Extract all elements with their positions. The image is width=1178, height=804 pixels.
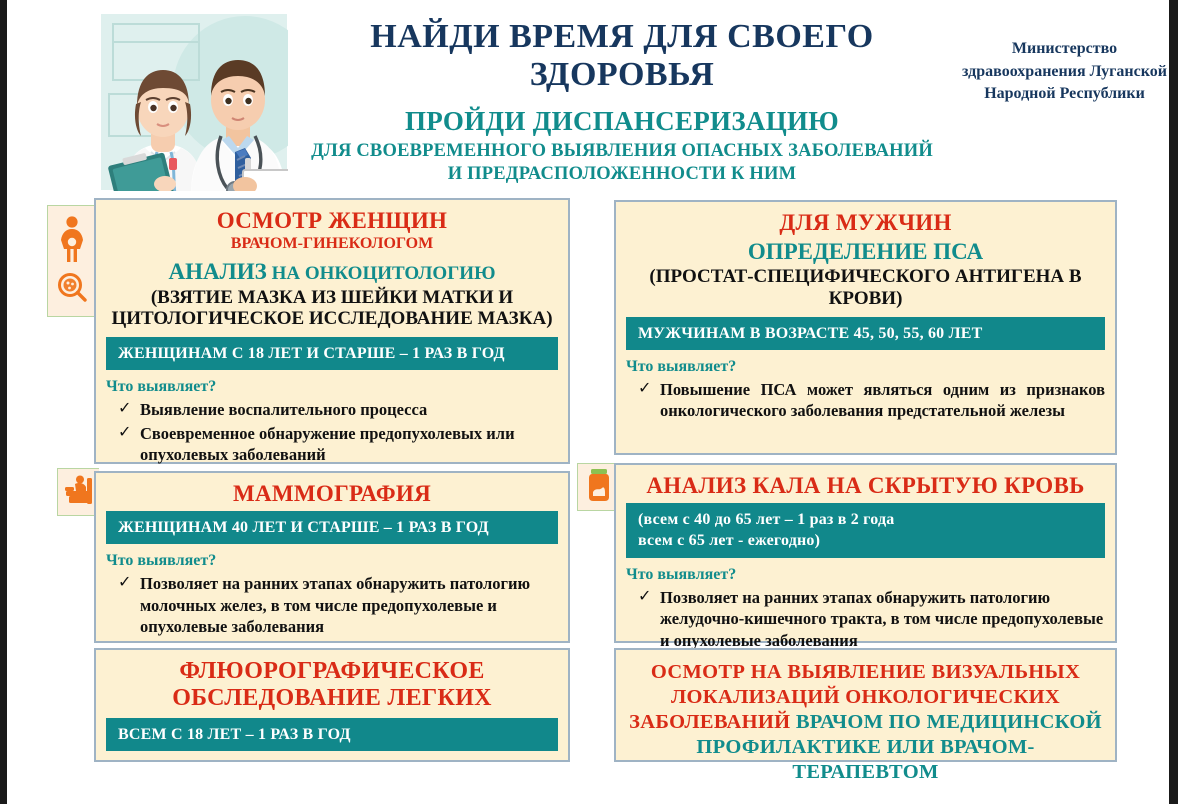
poster-sub-title: ПРОЙДИ ДИСПАНСЕРИЗАЦИЮ <box>307 106 937 137</box>
check-icon: ✓ <box>118 573 131 594</box>
men-psa-heading: ОПРЕДЕЛЕНИЕ ПСА <box>626 239 1105 265</box>
occult-blood-frequency-line-1: (всем с 40 до 65 лет – 1 раз в 2 года <box>638 509 1093 530</box>
occult-blood-icon-chip <box>577 463 619 511</box>
poster-canvas: НАЙДИ ВРЕМЯ ДЛЯ СВОЕГО ЗДОРОВЬЯ ПРОЙДИ Д… <box>0 0 1178 804</box>
women-exam-frequency-bar: ЖЕНЩИНАМ С 18 ЛЕТ И СТАРШЕ – 1 РАЗ В ГОД <box>106 337 558 370</box>
fluorography-title-line-2: ОБСЛЕДОВАНИЕ ЛЕГКИХ <box>106 685 558 712</box>
mammography-title: МАММОГРАФИЯ <box>106 481 558 507</box>
occult-blood-title: АНАЛИЗ КАЛА НА СКРЫТУЮ КРОВЬ <box>626 473 1105 499</box>
check-icon: ✓ <box>638 379 651 400</box>
woman-figure-icon <box>57 216 87 267</box>
women-exam-analysis-strong: АНАЛИЗ <box>169 259 267 284</box>
visual-exam-line-3-teal: ВРАЧОМ ПО МЕДИЦИНСКОЙ <box>796 711 1102 733</box>
women-exam-detail: (ВЗЯТИЕ МАЗКА ИЗ ШЕЙКИ МАТКИ И ЦИТОЛОГИЧ… <box>106 287 558 330</box>
card-visual-exam: ОСМОТР НА ВЫЯВЛЕНИЕ ВИЗУАЛЬНЫХ ЛОКАЛИЗАЦ… <box>614 648 1117 762</box>
mammography-detects-label: Что выявляет? <box>106 552 558 570</box>
check-icon: ✓ <box>118 423 131 444</box>
mammography-machine-icon <box>63 474 95 511</box>
bullet-text: Позволяет на ранних этапах обнаружить па… <box>660 588 1103 650</box>
list-item: ✓Своевременное обнаружение предопухолевы… <box>106 423 558 466</box>
check-icon: ✓ <box>118 399 131 420</box>
poster-sub-title-secondary: ДЛЯ СВОЕВРЕМЕННОГО ВЫЯВЛЕНИЯ ОПАСНЫХ ЗАБ… <box>307 140 937 186</box>
two-doctors-illustration <box>95 8 293 194</box>
men-psa-bullets: ✓Повышение ПСА может являться одним из п… <box>626 379 1105 422</box>
bullet-text: Выявление воспалительного процесса <box>140 400 427 419</box>
men-psa-detects-label: Что выявляет? <box>626 358 1105 376</box>
sample-jar-icon <box>586 468 612 507</box>
mammography-bullets: ✓Позволяет на ранних этапах обнаружить п… <box>106 573 558 637</box>
card-women-exam: ОСМОТР ЖЕНЩИН ВРАЧОМ-ГИНЕКОЛОГОМ АНАЛИЗ … <box>94 198 570 464</box>
occult-blood-frequency-bar: (всем с 40 до 65 лет – 1 раз в 2 года вс… <box>626 503 1105 558</box>
card-fluorography: ФЛЮОРОГРАФИЧЕСКОЕ ОБСЛЕДОВАНИЕ ЛЕГКИХ ВС… <box>94 648 570 762</box>
card-occult-blood: АНАЛИЗ КАЛА НА СКРЫТУЮ КРОВЬ (всем с 40 … <box>614 463 1117 643</box>
women-exam-icon-chip <box>47 205 95 317</box>
bullet-text: Позволяет на ранних этапах обнаружить па… <box>140 574 530 636</box>
fluorography-title-line-1: ФЛЮОРОГРАФИЧЕСКОЕ <box>106 658 558 685</box>
women-exam-subtitle: ВРАЧОМ-ГИНЕКОЛОГОМ <box>106 235 558 253</box>
bullet-text: Своевременное обнаружение предопухолевых… <box>140 424 515 464</box>
card-men-psa: ДЛЯ МУЖЧИН ОПРЕДЕЛЕНИЕ ПСА (ПРОСТАТ-СПЕЦ… <box>614 200 1117 455</box>
occult-blood-detects-label: Что выявляет? <box>626 566 1105 584</box>
card-mammography: МАММОГРАФИЯ ЖЕНЩИНАМ 40 ЛЕТ И СТАРШЕ – 1… <box>94 471 570 643</box>
visual-exam-line-1: ОСМОТР НА ВЫЯВЛЕНИЕ ВИЗУАЛЬНЫХ <box>626 660 1105 685</box>
check-icon: ✓ <box>638 587 651 608</box>
occult-blood-bullets: ✓Позволяет на ранних этапах обнаружить п… <box>626 587 1105 651</box>
visual-exam-line-2: ЛОКАЛИЗАЦИЙ ОНКОЛОГИЧЕСКИХ <box>626 685 1105 710</box>
women-exam-analysis-heading: АНАЛИЗ НА ОНКОЦИТОЛОГИЮ <box>106 259 558 285</box>
women-exam-title: ОСМОТР ЖЕНЩИН <box>106 208 558 234</box>
bullet-text: Повышение ПСА может являться одним из пр… <box>660 380 1105 420</box>
women-exam-detects-label: Что выявляет? <box>106 378 558 396</box>
list-item: ✓Позволяет на ранних этапах обнаружить п… <box>106 573 558 637</box>
fluorography-frequency-bar: ВСЕМ С 18 ЛЕТ – 1 РАЗ В ГОД <box>106 718 558 751</box>
mammography-icon-chip <box>57 468 99 516</box>
women-exam-bullets: ✓Выявление воспалительного процесса ✓Сво… <box>106 399 558 465</box>
women-exam-analysis-rest: НА ОНКОЦИТОЛОГИЮ <box>267 263 496 284</box>
microscope-magnifier-icon <box>57 272 87 307</box>
visual-exam-line-4: ПРОФИЛАКТИКЕ ИЛИ ВРАЧОМ-ТЕРАПЕВТОМ <box>626 735 1105 785</box>
poster-main-title: НАЙДИ ВРЕМЯ ДЛЯ СВОЕГО ЗДОРОВЬЯ <box>307 18 937 94</box>
men-psa-frequency-bar: МУЖЧИНАМ В ВОЗРАСТЕ 45, 50, 55, 60 ЛЕТ <box>626 317 1105 350</box>
men-psa-title: ДЛЯ МУЖЧИН <box>626 210 1105 236</box>
ministry-attribution: Министерство здравоохранения Луганской Н… <box>962 38 1167 106</box>
poster-header: НАЙДИ ВРЕМЯ ДЛЯ СВОЕГО ЗДОРОВЬЯ ПРОЙДИ Д… <box>7 0 1178 198</box>
title-block: НАЙДИ ВРЕМЯ ДЛЯ СВОЕГО ЗДОРОВЬЯ ПРОЙДИ Д… <box>307 18 937 186</box>
occult-blood-frequency-line-2: всем с 65 лет - ежегодно) <box>638 530 1093 551</box>
list-item: ✓Позволяет на ранних этапах обнаружить п… <box>626 587 1105 651</box>
visual-exam-line-3-red: ЗАБОЛЕВАНИЙ <box>629 711 796 733</box>
mammography-frequency-bar: ЖЕНЩИНАМ 40 ЛЕТ И СТАРШЕ – 1 РАЗ В ГОД <box>106 511 558 544</box>
men-psa-detail: (ПРОСТАТ-СПЕЦИФИЧЕСКОГО АНТИГЕНА В КРОВИ… <box>626 266 1105 309</box>
list-item: ✓Выявление воспалительного процесса <box>106 399 558 420</box>
list-item: ✓Повышение ПСА может являться одним из п… <box>626 379 1105 422</box>
visual-exam-line-3: ЗАБОЛЕВАНИЙ ВРАЧОМ ПО МЕДИЦИНСКОЙ <box>626 710 1105 735</box>
